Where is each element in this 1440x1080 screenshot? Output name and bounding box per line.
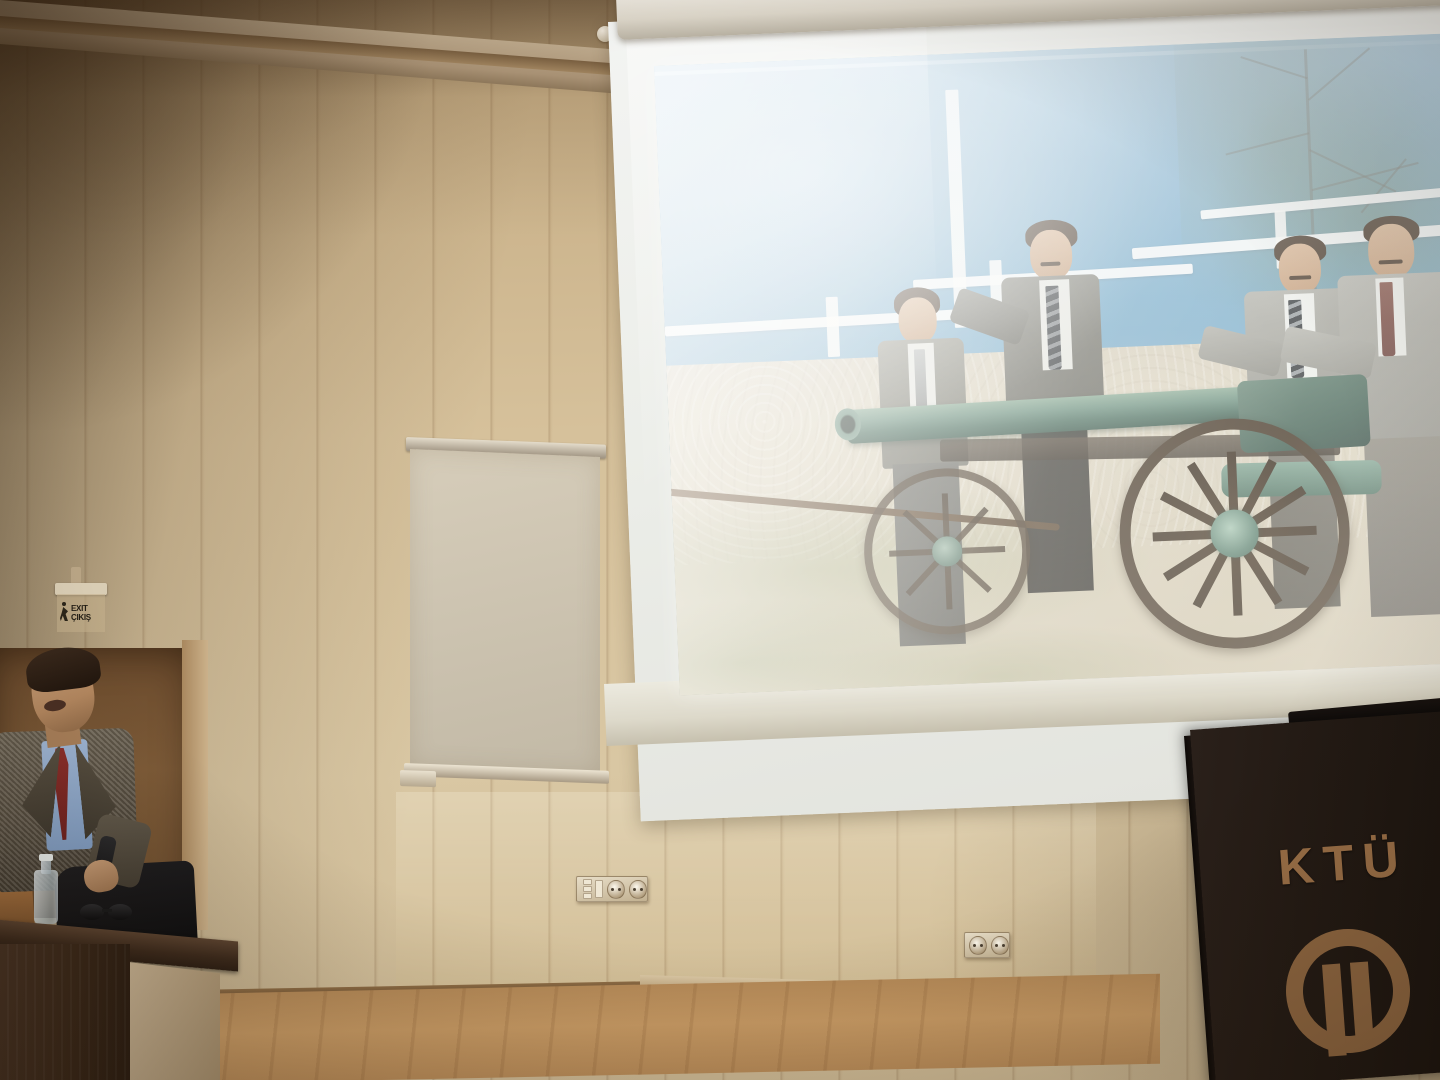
ktu-circular-logo (1282, 925, 1415, 1058)
cannon-wheel-hub (1210, 509, 1260, 559)
eyeglasses[interactable] (80, 904, 134, 922)
photo-person-head (898, 297, 938, 345)
photo-fence-post (826, 297, 840, 357)
exit-sign: EXIT ÇIKIŞ (55, 583, 107, 633)
seated-speaker (0, 648, 200, 948)
table-side-panel (128, 962, 220, 1080)
power-socket-2[interactable] (629, 880, 647, 899)
exit-sign-panel: EXIT ÇIKIŞ (57, 594, 105, 632)
ktu-wordmark: KTÜ (1276, 829, 1410, 896)
power-socket-4[interactable] (991, 936, 1009, 955)
bottle-body (34, 870, 58, 924)
photo-person-moustache (1040, 262, 1060, 267)
wall-shadow-top-left (0, 0, 430, 430)
running-person-icon (60, 602, 69, 624)
power-socket-3[interactable] (969, 936, 987, 955)
switch-2[interactable] (583, 886, 592, 892)
pull-down-projection-screen[interactable] (596, 0, 1440, 830)
bottle-cap[interactable] (39, 854, 53, 861)
table-front-panel (0, 944, 130, 1080)
photo-person-head (1029, 229, 1073, 281)
switch-3[interactable] (583, 893, 592, 899)
switch-4[interactable] (595, 880, 603, 898)
double-socket-plate[interactable] (964, 932, 1010, 958)
whiteboard-clip[interactable] (400, 770, 436, 787)
switch-group[interactable] (580, 879, 592, 900)
switch-and-socket-plate[interactable] (576, 876, 648, 902)
eyeglass-bridge (102, 909, 112, 912)
dark-wood-table (0, 918, 238, 1080)
ktu-logo-ring (1282, 925, 1415, 1058)
eyeglass-lens-left (80, 904, 104, 920)
photo-person-head (1367, 223, 1415, 279)
lectern-podium[interactable]: KTÜ (1190, 714, 1440, 1080)
water-bottle[interactable] (34, 858, 58, 924)
whiteboard-surface[interactable] (410, 449, 600, 775)
cannon-wheel-far (861, 465, 1034, 638)
photo-antique-cannon (817, 364, 1440, 679)
switch-1[interactable] (583, 879, 592, 885)
screenshot-root: EXIT ÇIKIŞ (0, 0, 1440, 1080)
photo-person-head (1278, 243, 1322, 295)
power-socket-1[interactable] (607, 880, 625, 899)
wall-mounted-whiteboard[interactable] (410, 445, 600, 775)
eyeglass-lens-right (108, 904, 132, 920)
exit-sign-text: EXIT ÇIKIŞ (71, 604, 91, 622)
projected-slide-photo (654, 33, 1440, 695)
